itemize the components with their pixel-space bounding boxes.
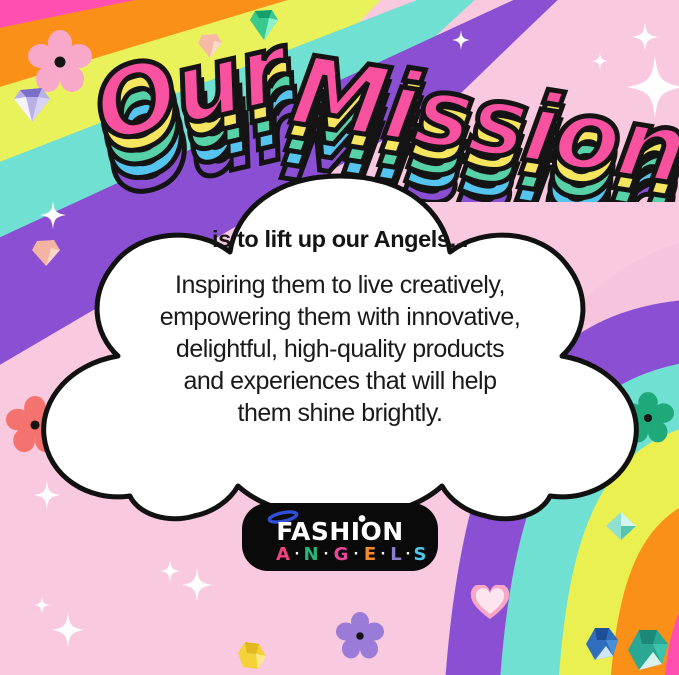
sparkle-icon bbox=[52, 612, 84, 648]
gem-green-top bbox=[248, 8, 280, 42]
body-copy: Inspiring them to live creatively, empow… bbox=[102, 269, 578, 429]
svg-text:S: S bbox=[414, 544, 427, 565]
svg-text:A: A bbox=[276, 544, 290, 565]
flower-pink-top-left bbox=[28, 30, 92, 94]
cloud-callout: is to lift up our Angels... Inspiring th… bbox=[14, 168, 666, 528]
headline: is to lift up our Angels... bbox=[102, 226, 578, 253]
sparkle-icon bbox=[592, 52, 608, 70]
logo-wordmark-bottom: A · N · G · E · L · S bbox=[276, 544, 426, 565]
body-line: Inspiring them to live creatively, bbox=[102, 269, 578, 301]
gem-yellow-bottom bbox=[236, 640, 268, 672]
sparkle-icon bbox=[452, 30, 470, 50]
gem-peach-top bbox=[196, 32, 224, 60]
gem-teal-bottom bbox=[626, 628, 670, 672]
svg-text:E: E bbox=[364, 544, 376, 565]
svg-text:·: · bbox=[324, 547, 329, 562]
svg-text:·: · bbox=[354, 547, 359, 562]
cloud-text-block: is to lift up our Angels... Inspiring th… bbox=[102, 226, 578, 429]
logo-wordmark-top: FASHION bbox=[276, 517, 403, 546]
body-line: delightful, high-quality products bbox=[102, 333, 578, 365]
body-line: them shine brightly. bbox=[102, 397, 578, 429]
flower-purple-bottom bbox=[336, 612, 384, 660]
gem-blue-bottom bbox=[584, 626, 620, 662]
sparkle-icon bbox=[34, 596, 50, 614]
logo-i-dot bbox=[359, 515, 366, 522]
svg-text:G: G bbox=[334, 544, 349, 565]
sparkle-icon bbox=[160, 560, 180, 582]
fashion-angels-logo[interactable]: FASHION A · N · G · E · L · S bbox=[242, 503, 438, 571]
heart-pink bbox=[470, 585, 510, 621]
mission-poster: Our Mission bbox=[0, 0, 679, 675]
sparkle-icon bbox=[632, 22, 658, 52]
svg-text:L: L bbox=[390, 544, 401, 565]
svg-text:·: · bbox=[406, 547, 411, 562]
svg-text:·: · bbox=[381, 547, 386, 562]
svg-text:·: · bbox=[295, 547, 300, 562]
sparkle-icon bbox=[182, 568, 212, 602]
body-line: and experiences that will help bbox=[102, 365, 578, 397]
logo-artwork: FASHION A · N · G · E · L · S bbox=[251, 508, 429, 566]
svg-text:N: N bbox=[303, 544, 318, 565]
gem-purple-top-left bbox=[12, 86, 52, 124]
body-line: empowering them with innovative, bbox=[102, 301, 578, 333]
sparkle-icon bbox=[626, 56, 679, 118]
